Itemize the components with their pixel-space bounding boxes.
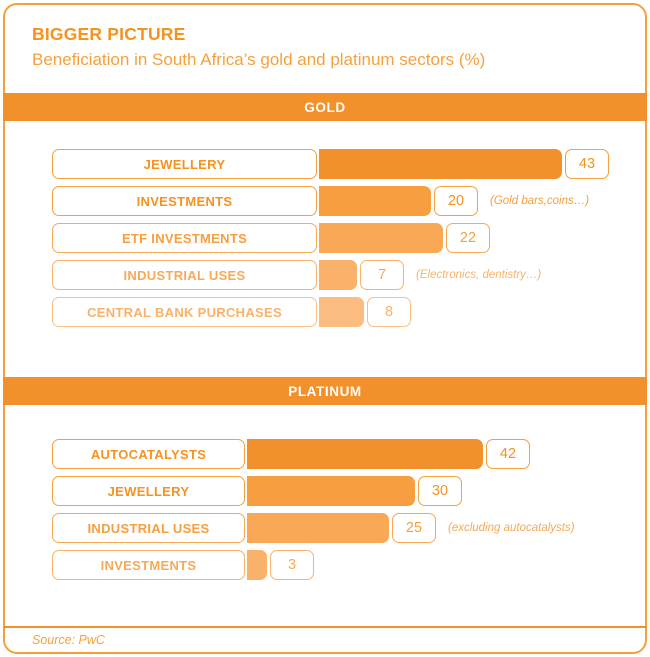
bar-row: CENTRAL BANK PURCHASES8 [5,297,645,327]
section-band-platinum: PLATINUM [3,377,647,405]
page-kicker: BIGGER PICTURE [32,23,645,45]
bar-category-label: CENTRAL BANK PURCHASES [52,297,317,327]
bar-row: INDUSTRIAL USES7(Electronics, dentistry…… [5,260,645,290]
bar-note: (excluding autocatalysts) [448,522,575,534]
bar-fill [319,297,364,327]
bar-fill [247,550,267,580]
bar-row: ETF INVESTMENTS22 [5,223,645,253]
bar-category-label: ETF INVESTMENTS [52,223,317,253]
bar-fill [319,149,562,179]
bar-value: 42 [486,439,530,469]
section-band-gold-label: GOLD [304,100,345,115]
infographic-root: BIGGER PICTURE Beneficiation in South Af… [0,0,650,657]
bar-category-label: INDUSTRIAL USES [52,260,317,290]
bar-note: (Gold bars,coins…) [490,195,589,207]
page-title: Beneficiation in South Africa’s gold and… [32,47,645,73]
bar-row: INVESTMENTS3 [5,550,645,580]
bar-row: JEWELLERY30 [5,476,645,506]
bar-value: 30 [418,476,462,506]
bar-value: 20 [434,186,478,216]
bar-category-label: JEWELLERY [52,149,317,179]
bar-value: 3 [270,550,314,580]
bar-row: JEWELLERY43 [5,149,645,179]
bar-value: 25 [392,513,436,543]
bar-value: 22 [446,223,490,253]
header: BIGGER PICTURE Beneficiation in South Af… [5,5,645,93]
bar-category-label: INVESTMENTS [52,550,245,580]
bar-category-label: JEWELLERY [52,476,245,506]
bar-fill [319,223,443,253]
bar-group-gold: JEWELLERY43INVESTMENTS20(Gold bars,coins… [5,149,645,334]
bar-value: 7 [360,260,404,290]
source-note: Source: PwC [32,633,105,647]
section-band-platinum-label: PLATINUM [288,384,362,399]
bar-note: (Electronics, dentistry…) [416,269,541,281]
bar-fill [247,513,389,543]
bar-fill [247,439,483,469]
bar-value: 8 [367,297,411,327]
bar-fill [247,476,415,506]
bar-row: AUTOCATALYSTS42 [5,439,645,469]
bar-value: 43 [565,149,609,179]
bar-row: INVESTMENTS20(Gold bars,coins…) [5,186,645,216]
footer-divider [3,626,647,628]
bar-fill [319,260,357,290]
section-band-gold: GOLD [3,93,647,121]
bar-category-label: AUTOCATALYSTS [52,439,245,469]
bar-group-platinum: AUTOCATALYSTS42JEWELLERY30INDUSTRIAL USE… [5,439,645,587]
infographic-frame: BIGGER PICTURE Beneficiation in South Af… [3,3,647,654]
bar-fill [319,186,431,216]
bar-category-label: INVESTMENTS [52,186,317,216]
bar-row: INDUSTRIAL USES25(excluding autocatalyst… [5,513,645,543]
bar-category-label: INDUSTRIAL USES [52,513,245,543]
